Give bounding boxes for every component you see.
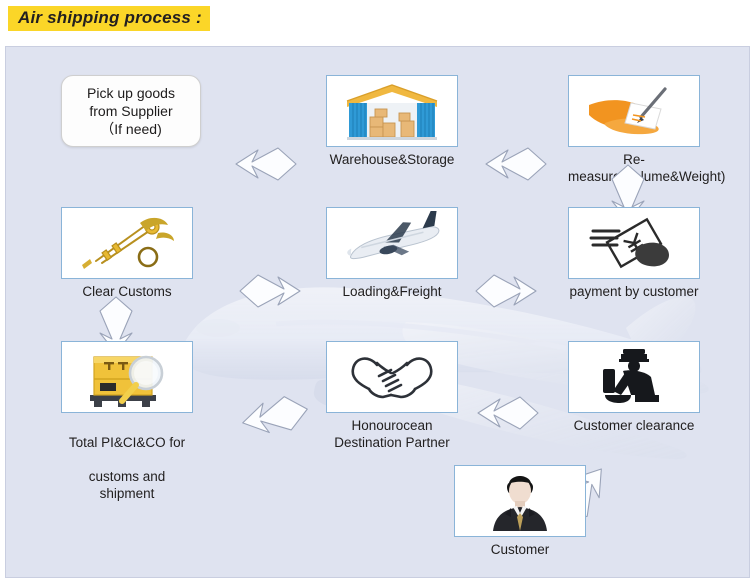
title-bar: Air shipping process : bbox=[0, 0, 755, 46]
pick-up-goods-box: Pick up goods from Supplier （If need) bbox=[61, 75, 201, 147]
loading-freight-label: Loading&Freight bbox=[326, 284, 458, 301]
airplane-icon bbox=[333, 211, 451, 275]
payment-image bbox=[568, 207, 700, 279]
arrow-warehouse-to-remeasure bbox=[484, 142, 548, 186]
total-pi-line1: Total PI&CI&CO for bbox=[69, 435, 185, 450]
destination-partner-label: Honourocean Destination Partner bbox=[326, 418, 458, 452]
customs-officer-icon bbox=[575, 345, 693, 409]
customer-label: Customer bbox=[454, 542, 586, 559]
page-title: Air shipping process : bbox=[8, 6, 210, 31]
total-pi-image bbox=[61, 341, 193, 413]
arrow-payment-to-loading bbox=[474, 269, 538, 313]
destination-partner-image bbox=[326, 341, 458, 413]
node-clear-customs[interactable]: Clear Customs bbox=[61, 207, 193, 301]
customer-image bbox=[454, 465, 586, 537]
re-measure-image bbox=[568, 75, 700, 147]
node-payment-by-customer[interactable]: payment by customer bbox=[568, 207, 700, 301]
pick-up-goods-line3: （If need) bbox=[100, 120, 161, 138]
box-magnifier-icon bbox=[68, 345, 186, 409]
warehouse-image bbox=[326, 75, 458, 147]
payment-hand-icon bbox=[575, 211, 693, 275]
warehouse-storage-label: Warehouse&Storage bbox=[326, 152, 458, 169]
pick-up-goods-line1: Pick up goods bbox=[87, 84, 175, 102]
arrow-totalpi-to-partner bbox=[240, 391, 310, 441]
node-customer-clearance[interactable]: Customer clearance bbox=[568, 341, 700, 435]
warehouse-icon bbox=[333, 79, 451, 143]
node-destination-partner[interactable]: Honourocean Destination Partner bbox=[326, 341, 458, 452]
total-pi-line2: customs and shipment bbox=[89, 469, 166, 501]
customer-clearance-label: Customer clearance bbox=[568, 418, 700, 435]
node-total-pi-ci-co[interactable]: Total PI&CI&CO for customs and shipment bbox=[61, 341, 193, 502]
process-diagram-panel: Pick up goods from Supplier （If need) bbox=[5, 46, 750, 578]
measure-icon bbox=[575, 79, 693, 143]
businessman-avatar-icon bbox=[461, 469, 579, 533]
clear-customs-image bbox=[61, 207, 193, 279]
golden-key-icon bbox=[68, 211, 186, 275]
customer-clearance-image bbox=[568, 341, 700, 413]
arrow-loading-to-clearcustoms bbox=[238, 269, 302, 313]
node-loading-freight[interactable]: Loading&Freight bbox=[326, 207, 458, 301]
total-pi-label: Total PI&CI&CO for customs and shipment bbox=[61, 418, 193, 502]
node-customer[interactable]: Customer bbox=[454, 465, 586, 559]
arrow-pickup-to-warehouse bbox=[234, 142, 298, 186]
payment-by-customer-label: payment by customer bbox=[568, 284, 700, 301]
node-pick-up-goods[interactable]: Pick up goods from Supplier （If need) bbox=[61, 75, 201, 147]
arrow-partner-to-clearance bbox=[476, 391, 540, 435]
pick-up-goods-line2: from Supplier bbox=[89, 102, 172, 120]
handshake-heart-icon bbox=[333, 345, 451, 409]
loading-freight-image bbox=[326, 207, 458, 279]
node-warehouse-storage[interactable]: Warehouse&Storage bbox=[326, 75, 458, 169]
